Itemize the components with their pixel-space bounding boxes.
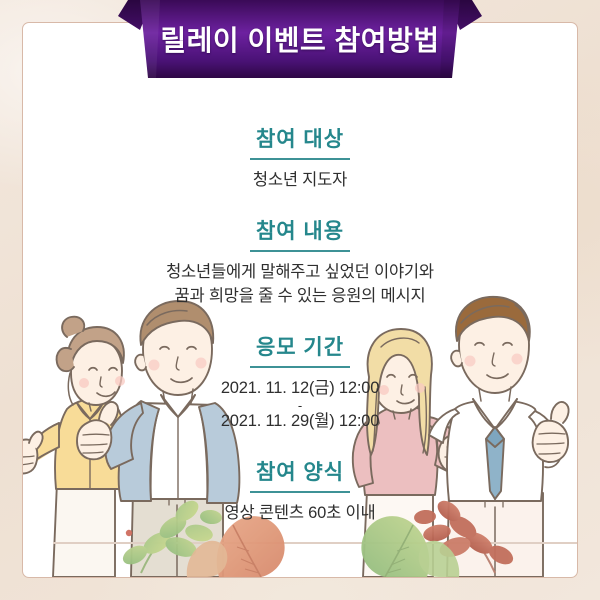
section-body-line: 청소년 지도자 — [23, 169, 577, 193]
section-heading: 참여 내용 — [250, 215, 350, 252]
section-body-line: 영상 콘텐츠 60초 이내 — [23, 502, 577, 526]
section-application-period: 응모 기간 2021. 11. 12(금) 12:00 - 2021. 11. … — [23, 331, 577, 435]
section-heading: 참여 양식 — [250, 456, 350, 493]
ribbon-title-text: 릴레이 이벤트 참여방법 — [0, 0, 600, 78]
period-separator-dash: - — [23, 401, 577, 411]
period-end-date: 2021. 11. 29(월) 12:00 — [23, 410, 577, 434]
poster: 참여 대상 청소년 지도자 참여 내용 청소년들에게 말해주고 싶었던 이야기와… — [0, 0, 600, 600]
section-participation-target: 참여 대상 청소년 지도자 — [23, 123, 577, 193]
section-body: 2021. 11. 12(금) 12:00 - 2021. 11. 29(월) … — [23, 377, 577, 435]
section-body-line: 청소년들에게 말해주고 싶었던 이야기와 — [23, 261, 577, 285]
section-body: 청소년들에게 말해주고 싶었던 이야기와 꿈과 희망을 줄 수 있는 응원의 메… — [23, 261, 577, 309]
section-body: 청소년 지도자 — [23, 169, 577, 193]
section-heading: 응모 기간 — [250, 331, 350, 368]
section-submission-format: 참여 양식 영상 콘텐츠 60초 이내 — [23, 456, 577, 526]
content-sections: 참여 대상 청소년 지도자 참여 내용 청소년들에게 말해주고 싶었던 이야기와… — [23, 123, 577, 540]
section-body: 영상 콘텐츠 60초 이내 — [23, 502, 577, 526]
section-body-line: 꿈과 희망을 줄 수 있는 응원의 메시지 — [23, 285, 577, 309]
section-heading: 참여 대상 — [250, 123, 350, 160]
section-participation-content: 참여 내용 청소년들에게 말해주고 싶었던 이야기와 꿈과 희망을 줄 수 있는… — [23, 215, 577, 309]
poster-card: 참여 대상 청소년 지도자 참여 내용 청소년들에게 말해주고 싶었던 이야기와… — [22, 22, 578, 578]
